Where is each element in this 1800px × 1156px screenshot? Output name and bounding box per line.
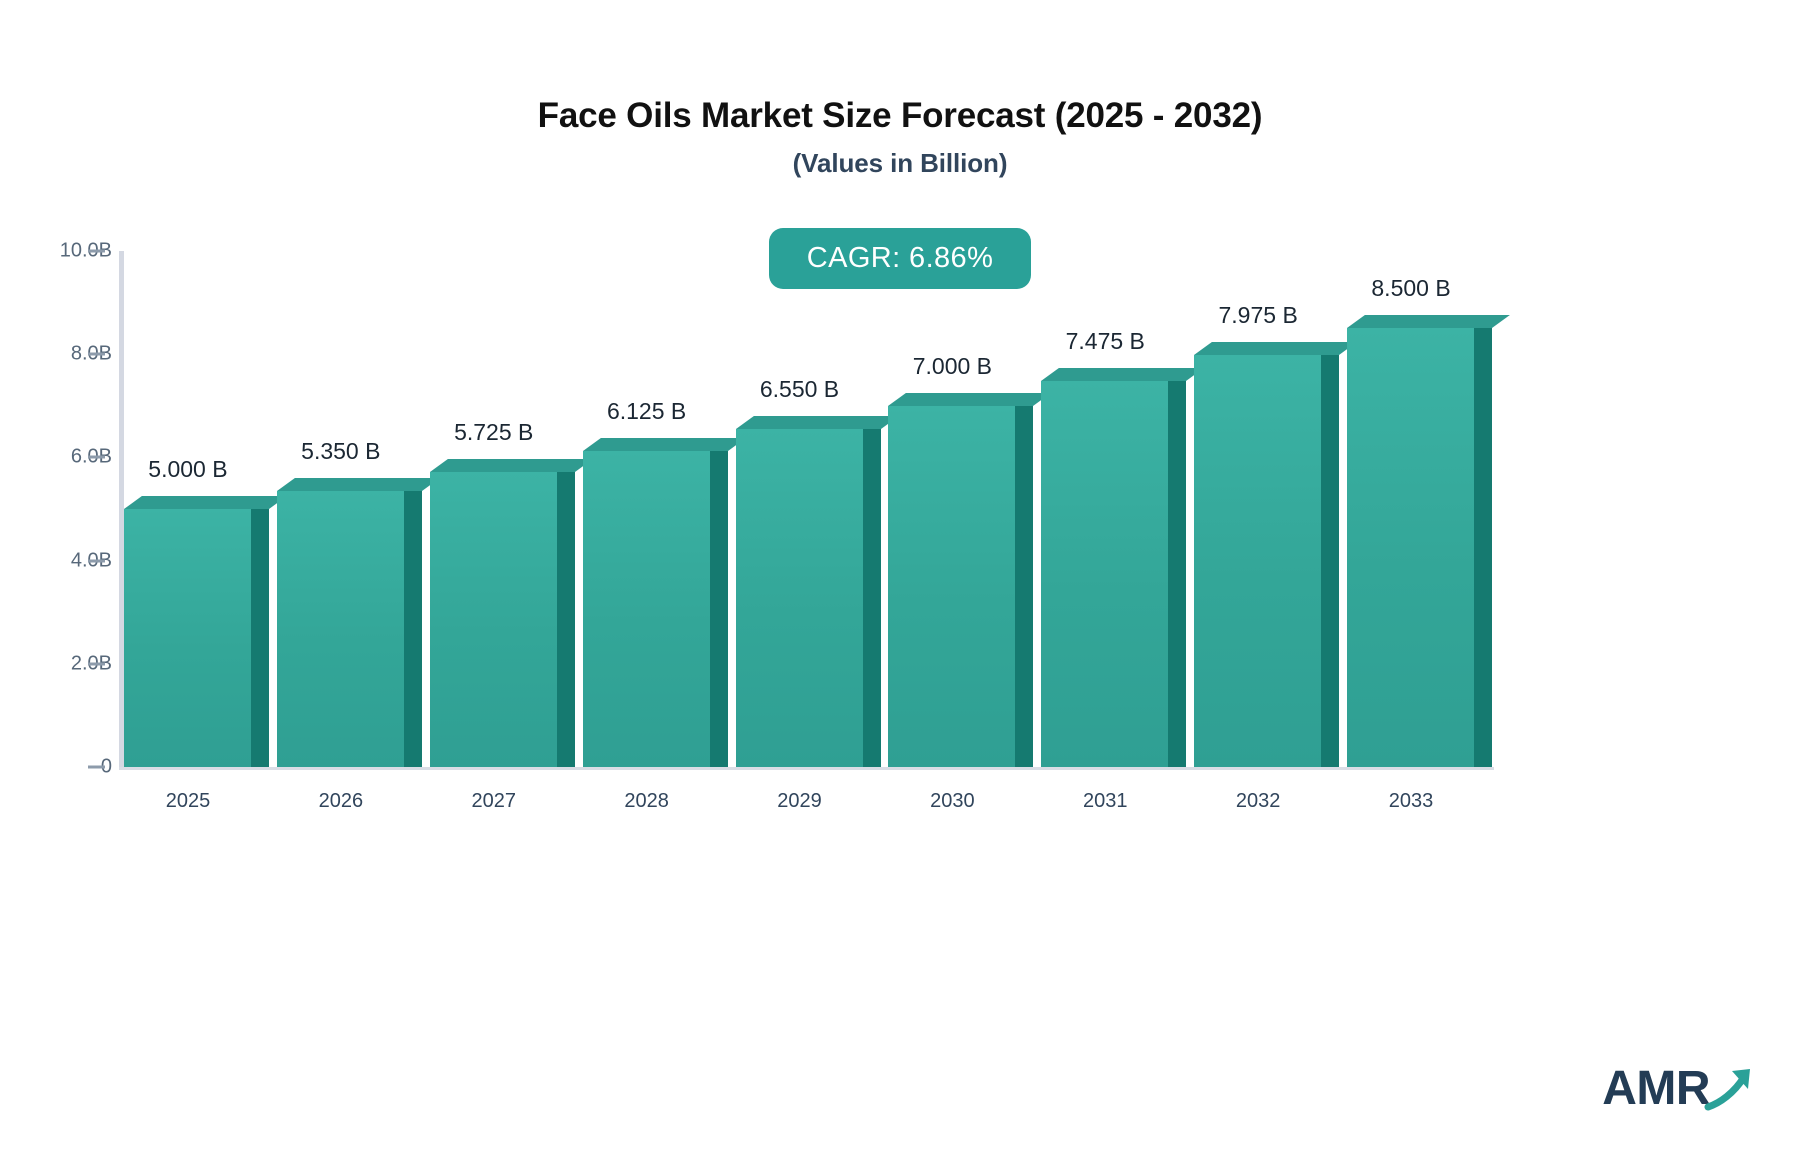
bar-front-face: [583, 451, 710, 767]
y-axis-tick-mark: [88, 353, 105, 356]
bar-value-label: 5.000 B: [112, 456, 264, 483]
bar-front-face: [1041, 381, 1168, 767]
x-axis-category-label: 2027: [418, 790, 570, 813]
bar-side-face: [1168, 381, 1186, 767]
bar-value-label: 5.350 B: [265, 438, 417, 465]
bar-side-face: [251, 509, 269, 767]
y-axis-tick-mark: [88, 662, 105, 665]
y-axis-tick-mark: [88, 456, 105, 459]
bar-group: 6.125 B2028: [583, 245, 736, 767]
bar-value-label: 7.000 B: [876, 353, 1028, 380]
bar-side-face: [404, 491, 422, 767]
chart-subtitle: (Values in Billion): [0, 136, 1800, 179]
bar-top-face: [1041, 368, 1204, 381]
page-title: Face Oils Market Size Forecast (2025 - 2…: [0, 0, 1800, 136]
bar-group: 5.000 B2025: [124, 245, 277, 767]
bar[interactable]: [736, 429, 889, 767]
x-axis-category-label: 2028: [571, 790, 723, 813]
bar[interactable]: [277, 491, 430, 767]
x-axis-category-label: 2033: [1335, 790, 1487, 813]
bar-top-face: [888, 393, 1051, 406]
bar-value-label: 6.550 B: [724, 376, 876, 403]
bar[interactable]: [888, 406, 1041, 767]
bar-value-label: 7.475 B: [1029, 328, 1181, 355]
amr-logo: AMR: [1602, 1063, 1762, 1114]
bar-top-face: [583, 438, 746, 451]
chart-plot-area: 02.0B4.0B6.0B8.0B10.0B 5.000 B20255.350 …: [0, 245, 1800, 785]
bar-value-label: 6.125 B: [571, 398, 723, 425]
bar-front-face: [1194, 355, 1321, 767]
bar-group: 7.975 B2032: [1194, 245, 1347, 767]
y-axis-tick-mark: [88, 250, 105, 253]
x-axis-category-label: 2025: [112, 790, 264, 813]
bar-series: 5.000 B20255.350 B20265.725 B20276.125 B…: [124, 245, 1500, 767]
bar-value-label: 8.500 B: [1335, 275, 1487, 302]
bar-front-face: [888, 406, 1015, 767]
x-axis-line: [119, 767, 1494, 770]
y-axis-tick-mark: [88, 766, 105, 769]
bar[interactable]: [1194, 355, 1347, 767]
x-axis-category-label: 2029: [724, 790, 876, 813]
bar-side-face: [1474, 328, 1492, 767]
trend-arrow-up-icon: [1704, 1063, 1762, 1120]
y-axis-tick-mark: [88, 559, 105, 562]
bar-group: 5.350 B2026: [277, 245, 430, 767]
bar-top-face: [124, 496, 287, 509]
bar-group: 5.725 B2027: [430, 245, 583, 767]
bar-side-face: [1321, 355, 1339, 767]
x-axis-category-label: 2032: [1182, 790, 1334, 813]
bar-front-face: [430, 472, 557, 767]
x-axis-category-label: 2026: [265, 790, 417, 813]
bar-front-face: [124, 509, 251, 767]
x-axis-category-label: 2030: [876, 790, 1028, 813]
bar[interactable]: [430, 472, 583, 767]
bar-front-face: [736, 429, 863, 767]
bar-value-label: 5.725 B: [418, 419, 570, 446]
bar[interactable]: [1041, 381, 1194, 767]
bar-value-label: 7.975 B: [1182, 302, 1334, 329]
bar[interactable]: [124, 509, 277, 767]
bar-side-face: [863, 429, 881, 767]
bar-group: 7.475 B2031: [1041, 245, 1194, 767]
x-axis-category-label: 2031: [1029, 790, 1181, 813]
bar-side-face: [710, 451, 728, 767]
bar[interactable]: [583, 451, 736, 767]
bar-front-face: [277, 491, 404, 767]
bar-front-face: [1347, 328, 1474, 767]
logo-text: AMR: [1602, 1065, 1710, 1113]
bar-top-face: [430, 459, 593, 472]
bar-group: 6.550 B2029: [736, 245, 889, 767]
bar-top-face: [736, 416, 899, 429]
bar-top-face: [277, 478, 440, 491]
bar-top-face: [1347, 315, 1510, 328]
bar-top-face: [1194, 342, 1357, 355]
bar-group: 7.000 B2030: [888, 245, 1041, 767]
bar-side-face: [557, 472, 575, 767]
bar-side-face: [1015, 406, 1033, 767]
bar[interactable]: [1347, 328, 1500, 767]
chart-header: Face Oils Market Size Forecast (2025 - 2…: [0, 0, 1800, 179]
bar-group: 8.500 B2033: [1347, 245, 1500, 767]
